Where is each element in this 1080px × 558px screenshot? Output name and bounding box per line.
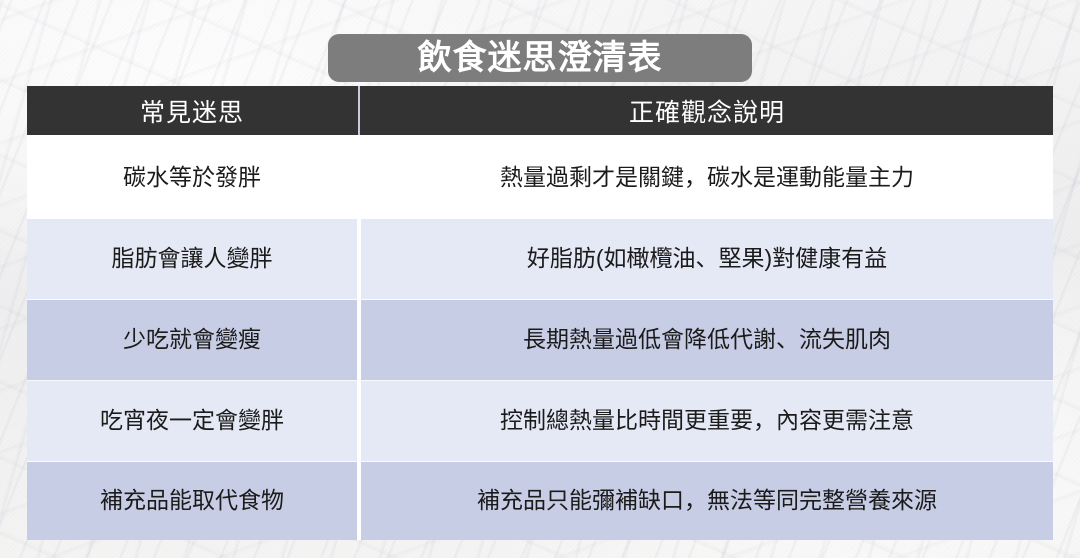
header-column-divider [357, 86, 361, 135]
cell-myth: 碳水等於發胖 [27, 138, 357, 219]
table-row: 脂肪會讓人變胖 好脂肪(如橄欖油、堅果)對健康有益 [27, 219, 1053, 300]
cell-truth: 控制總熱量比時間更重要，內容更需注意 [361, 381, 1053, 462]
table-header: 常見迷思 正確觀念說明 [27, 86, 1053, 138]
cell-myth: 吃宵夜一定會變胖 [27, 381, 357, 462]
diet-myth-table: 常見迷思 正確觀念說明 碳水等於發胖 熱量過剩才是關鍵，碳水是運動能量主力 脂肪… [27, 86, 1053, 540]
cell-truth: 熱量過剩才是關鍵，碳水是運動能量主力 [361, 138, 1053, 219]
table-row: 吃宵夜一定會變胖 控制總熱量比時間更重要，內容更需注意 [27, 381, 1053, 462]
cell-truth: 補充品只能彌補缺口，無法等同完整營養來源 [361, 462, 1053, 541]
page-title: 飲食迷思澄清表 [418, 41, 663, 75]
table-header-row: 常見迷思 正確觀念說明 [27, 86, 1053, 135]
cell-truth: 好脂肪(如橄欖油、堅果)對健康有益 [361, 219, 1053, 300]
cell-myth: 脂肪會讓人變胖 [27, 219, 357, 300]
column-header-truth: 正確觀念說明 [361, 86, 1053, 135]
column-header-myth: 常見迷思 [27, 86, 357, 135]
table-row: 少吃就會變瘦 長期熱量過低會降低代謝、流失肌肉 [27, 300, 1053, 381]
cell-myth: 少吃就會變瘦 [27, 300, 357, 381]
title-banner: 飲食迷思澄清表 [328, 34, 752, 82]
cell-truth: 長期熱量過低會降低代謝、流失肌肉 [361, 300, 1053, 381]
table-body: 碳水等於發胖 熱量過剩才是關鍵，碳水是運動能量主力 脂肪會讓人變胖 好脂肪(如橄… [27, 138, 1053, 540]
table-row: 補充品能取代食物 補充品只能彌補缺口，無法等同完整營養來源 [27, 462, 1053, 541]
table-row: 碳水等於發胖 熱量過剩才是關鍵，碳水是運動能量主力 [27, 138, 1053, 219]
cell-myth: 補充品能取代食物 [27, 462, 357, 541]
